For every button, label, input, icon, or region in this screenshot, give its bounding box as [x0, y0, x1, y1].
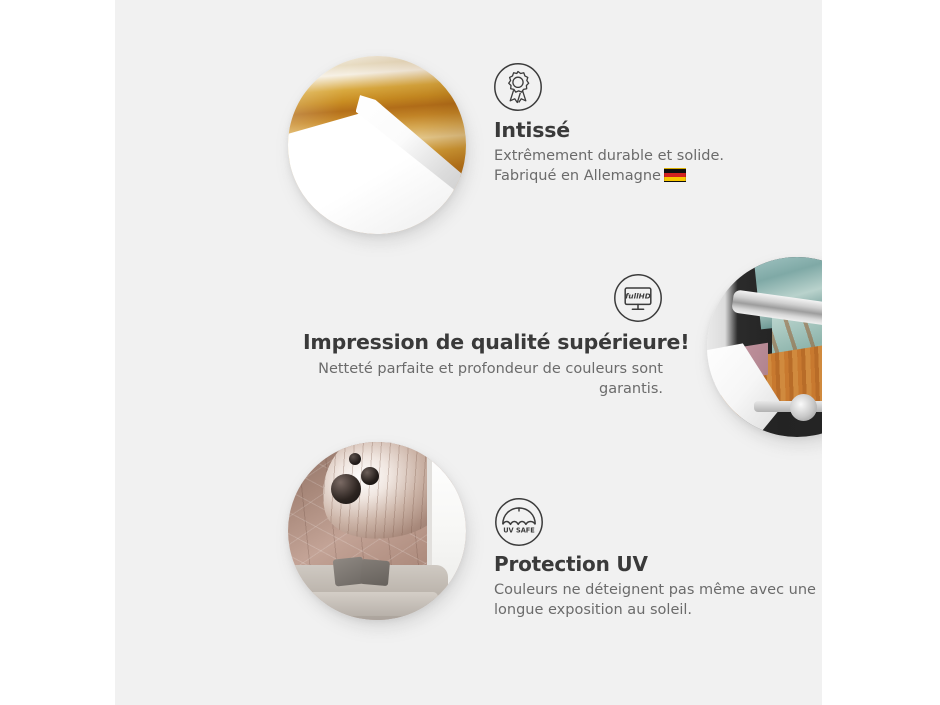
- impression-body: Netteté parfaite et profondeur de couleu…: [303, 359, 663, 399]
- impression-body-line2: garantis.: [599, 381, 663, 397]
- printing-press-photo: [707, 257, 822, 437]
- intisse-body-line2: Fabriqué en Allemagne: [494, 168, 661, 184]
- uv-body: Couleurs ne déteignent pas même avec une…: [494, 580, 822, 620]
- infographic-panel: Intissé Extrêmement durable et solide. F…: [115, 0, 822, 705]
- infographic-page: Intissé Extrêmement durable et solide. F…: [0, 0, 940, 705]
- living-room-mural-photo: [288, 442, 466, 620]
- mural-orb-medium: [361, 467, 379, 485]
- fullhd-icon-label: fullHD: [625, 292, 651, 301]
- peeling-wallpaper-photo: [288, 56, 466, 234]
- mural-orb-large: [331, 474, 361, 504]
- impression-body-line1: Netteté parfaite et profondeur de couleu…: [318, 361, 663, 377]
- intisse-body-line1: Extrêmement durable et solide.: [494, 148, 724, 164]
- award-rosette-icon: [493, 62, 543, 112]
- intisse-text-block: Intissé Extrêmement durable et solide. F…: [494, 118, 794, 186]
- mural-orb-small: [349, 453, 361, 465]
- uv-body-line1: Couleurs ne déteignent pas même avec une: [494, 582, 816, 598]
- press-wheel-left: [790, 394, 817, 421]
- uv-text-block: Protection UV Couleurs ne déteignent pas…: [494, 552, 822, 620]
- german-flag-icon: [664, 168, 686, 182]
- sofa-cushion-right: [360, 558, 391, 585]
- impression-text-block: Impression de qualité supérieure! Nettet…: [303, 330, 663, 399]
- intisse-body: Extrêmement durable et solide. Fabriqué …: [494, 146, 794, 186]
- uv-body-line2: longue exposition au soleil.: [494, 602, 692, 618]
- uv-safe-icon-label: UV SAFE: [503, 527, 535, 535]
- sofa-seat: [299, 592, 438, 617]
- fullhd-monitor-icon: fullHD: [613, 273, 663, 323]
- uv-safe-umbrella-icon: UV SAFE: [494, 497, 544, 547]
- impression-title: Impression de qualité supérieure!: [303, 330, 663, 354]
- intisse-title: Intissé: [494, 118, 794, 142]
- uv-title: Protection UV: [494, 552, 822, 576]
